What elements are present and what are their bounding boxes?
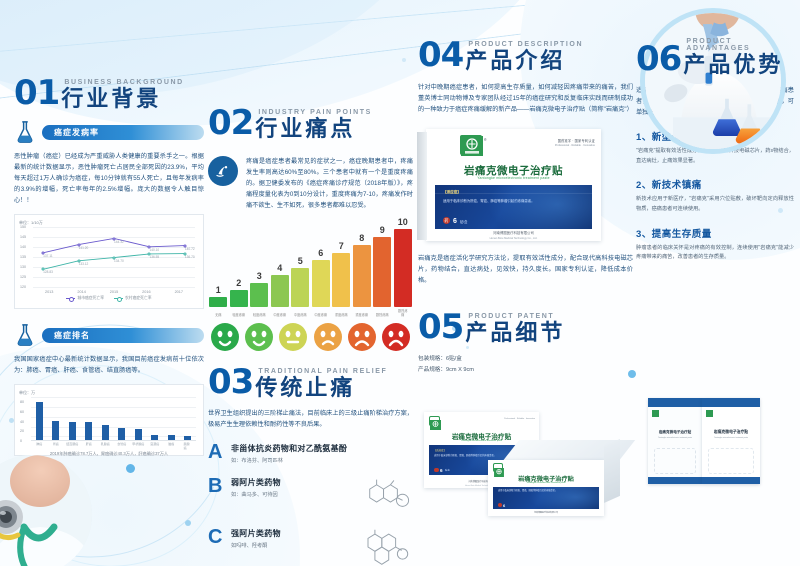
product-logo-glyph [461, 136, 483, 156]
chart-point-label: 144.32 [114, 240, 124, 244]
section-05-number: 05 [418, 310, 463, 344]
advantage-title: 2、新技术镇痛 [636, 177, 794, 191]
card-incidence-body: 恶性肿瘤（癌症）已经成为严重威胁人类健康的重要杀手之一。根据最新的统计数据显示，… [14, 151, 204, 206]
pain-scale-caption: 无痛 [215, 313, 221, 317]
pain-scale-caption: 轻度疼痛 [232, 313, 245, 317]
product-approval-badge [498, 503, 502, 507]
product-spec-size: 产品规格：9cm X 9cm [418, 365, 633, 376]
pain-scale-number: 3 [257, 271, 262, 281]
chart-x-tick: 2013 [45, 290, 53, 294]
chart-point-label: 133.12 [79, 262, 89, 266]
chart-x-tick: 2015 [110, 290, 118, 294]
product-logo [460, 135, 482, 155]
product-brand-en: Yantongke microelectronic treatment past… [426, 176, 601, 180]
chart-bar-label: 胃癌 [53, 442, 59, 446]
section-02-english-label: INDUSTRY PAIN POINTS [258, 109, 372, 116]
pain-scale-bar [250, 283, 268, 307]
pain-scale-face-icon [314, 323, 342, 351]
product-indication-text: 适用于临床诊断为肝癌、胃癌、肺癌等肿瘤引起的疼痛患者。 [498, 490, 583, 494]
product-logo-glyph [430, 420, 441, 430]
chart-bar [118, 428, 125, 440]
pain-scale-caption: 剧烈疼痛 [376, 313, 389, 317]
pain-scale-bar [271, 275, 289, 307]
section-04-number: 04 [418, 38, 463, 72]
chart-bar [135, 429, 142, 440]
chart-bar [102, 425, 109, 440]
section-01-heading: 01 BUSINESS BACKGROUND 行业背景 [14, 76, 204, 110]
drug-class-item: B 弱阿片类药物 如：曲马多、可待因 [208, 477, 413, 515]
chart-bar [69, 422, 76, 440]
chart-ranking-plot: 020406080 [31, 397, 196, 441]
pain-scale-bar [353, 245, 371, 307]
card-incidence-header: 癌症发病率 [14, 120, 204, 144]
product-count: 6 [440, 468, 443, 473]
chart-bar-label: 结直肠癌 [66, 442, 78, 446]
chart-point-label: 136.70 [185, 255, 195, 259]
chart-bar [85, 422, 92, 440]
product-spec-packaging: 包装规格：6贴/盒 [418, 354, 633, 365]
drug-class-item: A 非甾体抗炎药物和对乙酰氨基酚 如：布洛芬、阿司匹林 [208, 443, 413, 464]
pain-scale-bar [312, 260, 330, 307]
drug-class-letter: B [208, 477, 224, 496]
chart-y-tick: 80 [20, 400, 24, 404]
chart-bar [168, 435, 175, 440]
chart-y-tick: 20 [20, 429, 24, 433]
advantage-body: 肿瘤患者的临床关怀是对疼痛的有效控制，连续使用"岩痛克"能减少疼痛带来的痛苦，改… [636, 244, 794, 263]
drug-class-examples: 如：曲马多、可待因 [231, 491, 354, 498]
product-box-3d: 岩痛克微电子治疗贴 Yantongke microelectronic trea… [488, 440, 618, 518]
pain-scale-bar [332, 253, 350, 307]
chart-point-label: 136.55 [149, 255, 159, 259]
section-03-english-label: TRADITIONAL PAIN RELIEF [258, 368, 387, 375]
pain-scale-face-icon [279, 323, 307, 351]
pain-scale-caption: 重度疼痛 [335, 313, 348, 317]
product-company-en: Henan Botu Medical Technology Co., Ltd. [426, 237, 601, 240]
section-02-title: 行业痛点 [255, 118, 372, 140]
molecule-structure-icon [361, 528, 413, 566]
section-06-number: 06 [636, 42, 681, 76]
product-corner-en: Professional · Reliable · Innovative [504, 418, 535, 421]
section-04-body: 针对中晚期癌症患者，如何提高生存质量，如何减轻因疼痛带来的痛苦，我们董英博士同动… [418, 82, 633, 115]
section-01-english-label: BUSINESS BACKGROUND [64, 79, 183, 86]
chart-ranking-bars [31, 397, 196, 440]
legend-label: 城市癌症死亡率 [77, 296, 104, 301]
chart-bar [184, 436, 191, 441]
product-indication-title: 【适应症】 [434, 448, 446, 452]
chart-bar-label: 甲状腺癌 [132, 442, 144, 446]
drug-class-title: 强阿片类药物 [231, 528, 354, 539]
drug-class-examples: 如：布洛芬、阿司匹林 [231, 457, 413, 464]
drug-class-letter: A [208, 443, 224, 462]
product-company-cn: 河南博图医疗科技有限公司 [426, 230, 601, 235]
column-mid: 02 INDUSTRY PAIN POINTS 行业痛点 疼痛是癌症患者最常见的… [208, 0, 413, 566]
product-company-cn: 河南博图医疗科技有限公司 [488, 511, 604, 514]
chart-y-tick: 0 [20, 439, 22, 443]
section-03-number: 03 [208, 365, 253, 399]
product-count: 6 [453, 218, 457, 225]
pain-scale-caption: 重度疼痛 [355, 313, 368, 317]
legend-swatch [114, 298, 123, 300]
chart-ranking-x-labels: 肺癌胃癌结直肠癌肝癌乳腺癌食管癌甲状腺癌宫颈癌脑瘤胰腺癌 [31, 441, 196, 447]
pain-scale-number: 9 [380, 225, 385, 235]
infographic-poster: 01 BUSINESS BACKGROUND 行业背景 癌症发病率 恶性肿瘤（癌… [0, 0, 800, 566]
product-corner-en: Professional · Reliable · Innovative [555, 144, 595, 147]
product-indication-panel: 适用于临床诊断为肝癌、胃癌、肺癌等肿瘤引起的疼痛患者。 6 [493, 487, 599, 509]
advantage-title: 3、提高生存质量 [636, 226, 794, 240]
drug-class-title: 弱阿片类药物 [231, 477, 354, 488]
section-06-english-label: PRODUCT ADVANTAGES [686, 38, 794, 52]
section-05-title: 产品细节 [465, 322, 565, 344]
column-right-inner: 04 PRODUCT DESCRIPTION 产品介绍 针对中晚期癌症患者，如何… [418, 0, 633, 566]
chart-y-tick: 40 [20, 420, 24, 424]
card-incidence-pill: 癌症发病率 [42, 125, 204, 140]
chart-bar-label: 食管癌 [117, 442, 126, 446]
legend-item: 农村癌症死亡率 [114, 296, 152, 301]
section-03-title: 传统止痛 [255, 377, 387, 399]
chart-bar-label: 肺癌 [36, 442, 42, 446]
product-indication-panel: 【适应症】 适用于临床诊断为肝癌、胃癌、肺癌等肿瘤引起的疼痛患者。 药 6 贴/… [435, 185, 592, 229]
section-01-number: 01 [14, 76, 59, 110]
chart-bar-label: 肝癌 [86, 442, 92, 446]
pain-scale-number: 10 [398, 217, 408, 227]
chart-ranking-unit: 单位：万 [19, 390, 199, 396]
pain-scale: 1无痛2轻度疼痛3轻度疼痛4中度疼痛5中度疼痛6中度疼痛7重度疼痛8重度疼痛9剧… [208, 225, 413, 353]
pain-scale-caption: 剧烈疼痛 [398, 309, 408, 317]
sachet-brand-en: Yantongke microelectronic treatment past… [648, 437, 702, 439]
advantage-item: 3、提高生存质量 肿瘤患者的临床关怀是对疼痛的有效控制，连续使用"岩痛克"能减少… [636, 226, 794, 263]
chart-bar [151, 435, 158, 440]
chart-y-tick: 125 [20, 275, 26, 279]
flask-icon [14, 120, 36, 144]
pain-scale-caption: 中度疼痛 [273, 313, 286, 317]
doctor-stethoscope-photo [0, 455, 92, 566]
product-sachet: 岩痛克微电子治疗贴 Yantongke microelectronic trea… [648, 398, 702, 484]
product-box-main: ® 国药准字 · 国家专利认证 Professional · Reliable … [426, 129, 601, 241]
product-approval-badge [434, 468, 439, 473]
chart-cancer-ranking: 单位：万 020406080 肺癌胃癌结直肠癌肝癌乳腺癌食管癌甲状腺癌宫颈癌脑瘤… [14, 384, 204, 456]
chart-point-label: 137.11 [43, 254, 53, 258]
drug-class-title: 非甾体抗炎药物和对乙酰氨基酚 [231, 443, 413, 454]
advantage-body: 新技术应用于新医疗，"岩痛克"采用穴位贴敷，破坏靶向定向释放性物质，癌痛患者可连… [636, 195, 794, 214]
section-03-heading: 03 TRADITIONAL PAIN RELIEF 传统止痛 [208, 365, 413, 399]
chart-y-tick: 120 [20, 285, 26, 289]
pain-scale-bar [373, 237, 391, 307]
drug-class-item: C 强阿片类药物 如吗啡、羟考酮 [208, 528, 413, 566]
product-indication-title: 【适应症】 [443, 190, 461, 195]
pain-scale-caption: 中度疼痛 [314, 313, 327, 317]
chart-y-tick: 60 [20, 410, 24, 414]
pain-scale-number: 5 [298, 256, 303, 266]
column-right-outer: 06 PRODUCT ADVANTAGES 产品优势 适用于临床诊断为肝癌、胃癌… [636, 0, 794, 566]
section-04-box-body: 岩痛克是癌症活化学研究方法论，提取有效活性成分，配合现代高科技电磁芯片，药物结合… [418, 253, 633, 286]
chart-mortality-trend: 单位：1/10万 150 145 140 135 130 125 120 137… [14, 214, 204, 309]
lab-photo-art [645, 13, 781, 149]
sachet-brand-en: Yantongke microelectronic treatment past… [702, 437, 760, 439]
pain-scale-number: 1 [216, 285, 221, 295]
section-02-number: 02 [208, 106, 253, 140]
pain-nerve-glyph [214, 162, 232, 180]
sachet-brand-cn: 岩痛克微电子治疗贴 [648, 430, 702, 435]
pain-scale-face-icon [245, 323, 273, 351]
section-06-heading: 06 PRODUCT ADVANTAGES 产品优势 [636, 38, 794, 76]
pain-scale-caption: 中度疼痛 [294, 313, 307, 317]
molecule-structure-icon [361, 477, 413, 515]
drug-class-letter: C [208, 528, 224, 547]
product-indication-text: 适用于临床诊断为肝癌、胃癌、肺癌等肿瘤引起的疼痛患者。 [443, 198, 562, 204]
product-corner-cn: 国药准字 · 国家专利认证 [555, 138, 595, 143]
pain-scale-number: 6 [318, 248, 323, 258]
chart-bar [52, 421, 59, 441]
pain-scale-number: 8 [359, 233, 364, 243]
pain-scale-bar [394, 229, 412, 307]
card-ranking-title: 癌症排名 [54, 330, 90, 341]
product-approval-badge: 药 [443, 217, 450, 224]
product-sachet: 岩痛克微电子治疗贴 Yantongke microelectronic trea… [702, 398, 760, 484]
chart-mortality-unit: 单位：1/10万 [19, 220, 199, 226]
chart-bar-label: 乳腺癌 [101, 442, 110, 446]
chart-y-tick: 135 [20, 255, 26, 259]
chart-point-label: 140.10 [149, 248, 159, 252]
legend-swatch [66, 298, 75, 300]
pain-scale-number: 2 [236, 278, 241, 288]
section-05-heading: 05 PRODUCT PATENT 产品细节 [418, 310, 633, 344]
chart-point-label: 141.20 [79, 246, 89, 250]
pain-scale-caption: 轻度疼痛 [253, 313, 266, 317]
product-logo [429, 416, 440, 426]
pain-scale-face-icon [382, 323, 410, 351]
chart-mortality-plot: 150 145 140 135 130 125 120 137.11141.20… [33, 227, 195, 287]
legend-label: 农村癌症死亡率 [125, 296, 152, 301]
card-ranking-body: 我国国家癌症中心最新统计数据显示，我国目前癌症发病前十位依次为：肺癌、胃癌、肝癌… [14, 354, 204, 376]
section-05-english-label: PRODUCT PATENT [468, 313, 565, 320]
chart-point-label: 134.70 [114, 259, 124, 263]
chart-y-tick: 145 [20, 235, 26, 239]
product-count-unit: 贴/盒 [445, 469, 450, 472]
advantage-item: 2、新技术镇痛 新技术应用于新医疗，"岩痛克"采用穴位贴敷，破坏靶向定向释放性物… [636, 177, 794, 214]
card-incidence-title: 癌症发病率 [54, 127, 99, 138]
chart-y-tick: 130 [20, 265, 26, 269]
sachet-brand-cn: 岩痛克微电子治疗贴 [702, 430, 760, 435]
chart-x-tick: 2014 [77, 290, 85, 294]
section-04-heading: 04 PRODUCT DESCRIPTION 产品介绍 [418, 38, 633, 72]
pain-scale-bar [230, 290, 248, 307]
section-04-title: 产品介绍 [465, 50, 583, 72]
drug-class-examples: 如吗啡、羟考酮 [231, 542, 354, 549]
product-brand-en: Yantongke microelectronic treatment past… [488, 482, 604, 484]
pain-scale-bar [209, 297, 227, 307]
chart-bar-label: 脑瘤 [168, 442, 174, 446]
chart-mortality-legend: 城市癌症死亡率 农村癌症死亡率 [19, 296, 199, 301]
chart-x-tick: 2016 [142, 290, 150, 294]
chart-bar-label: 胰腺癌 [184, 442, 192, 450]
chart-y-tick: 140 [20, 245, 26, 249]
chart-bar [36, 402, 43, 440]
pain-nerve-icon [208, 156, 238, 186]
pain-scale-face-icon [348, 323, 376, 351]
section-02-heading: 02 INDUSTRY PAIN POINTS 行业痛点 [208, 106, 413, 140]
product-logo [493, 463, 503, 472]
legend-item: 城市癌症死亡率 [66, 296, 104, 301]
pain-scale-number: 4 [277, 263, 282, 273]
column-left: 01 BUSINESS BACKGROUND 行业背景 癌症发病率 恶性肿瘤（癌… [14, 0, 204, 566]
laboratory-scientist-photo [640, 8, 786, 154]
card-ranking-header: 癌症排名 [14, 323, 204, 347]
section-03-body: 世界卫生组织提出的三阶梯止痛法，目前临床上的三级止痛阶梯治疗方案，极易产生生理依… [208, 408, 413, 430]
section-06-title: 产品优势 [683, 54, 794, 76]
chart-bar-label: 宫颈癌 [150, 442, 159, 446]
section-02-body: 疼痛是癌症患者最常见的症状之一，癌症晚期患者中，疼痛发生率则高达60%至80%。… [246, 156, 413, 211]
product-count: 6 [503, 503, 505, 508]
pain-scale-bar [291, 268, 309, 307]
product-count-unit: 贴/盒 [460, 219, 467, 224]
pain-scale-face-icon [211, 323, 239, 351]
section-01-title: 行业背景 [61, 88, 183, 110]
chart-point-label: 128.83 [43, 270, 53, 274]
flask-icon [14, 323, 36, 347]
chart-x-tick: 2017 [175, 290, 183, 294]
chart-point-label: 140.72 [185, 247, 195, 251]
card-ranking-pill: 癌症排名 [42, 328, 204, 343]
chart-y-tick: 150 [20, 225, 26, 229]
doctor-photo-art [0, 455, 92, 566]
pain-scale-number: 7 [339, 241, 344, 251]
section-04-english-label: PRODUCT DESCRIPTION [468, 41, 583, 48]
